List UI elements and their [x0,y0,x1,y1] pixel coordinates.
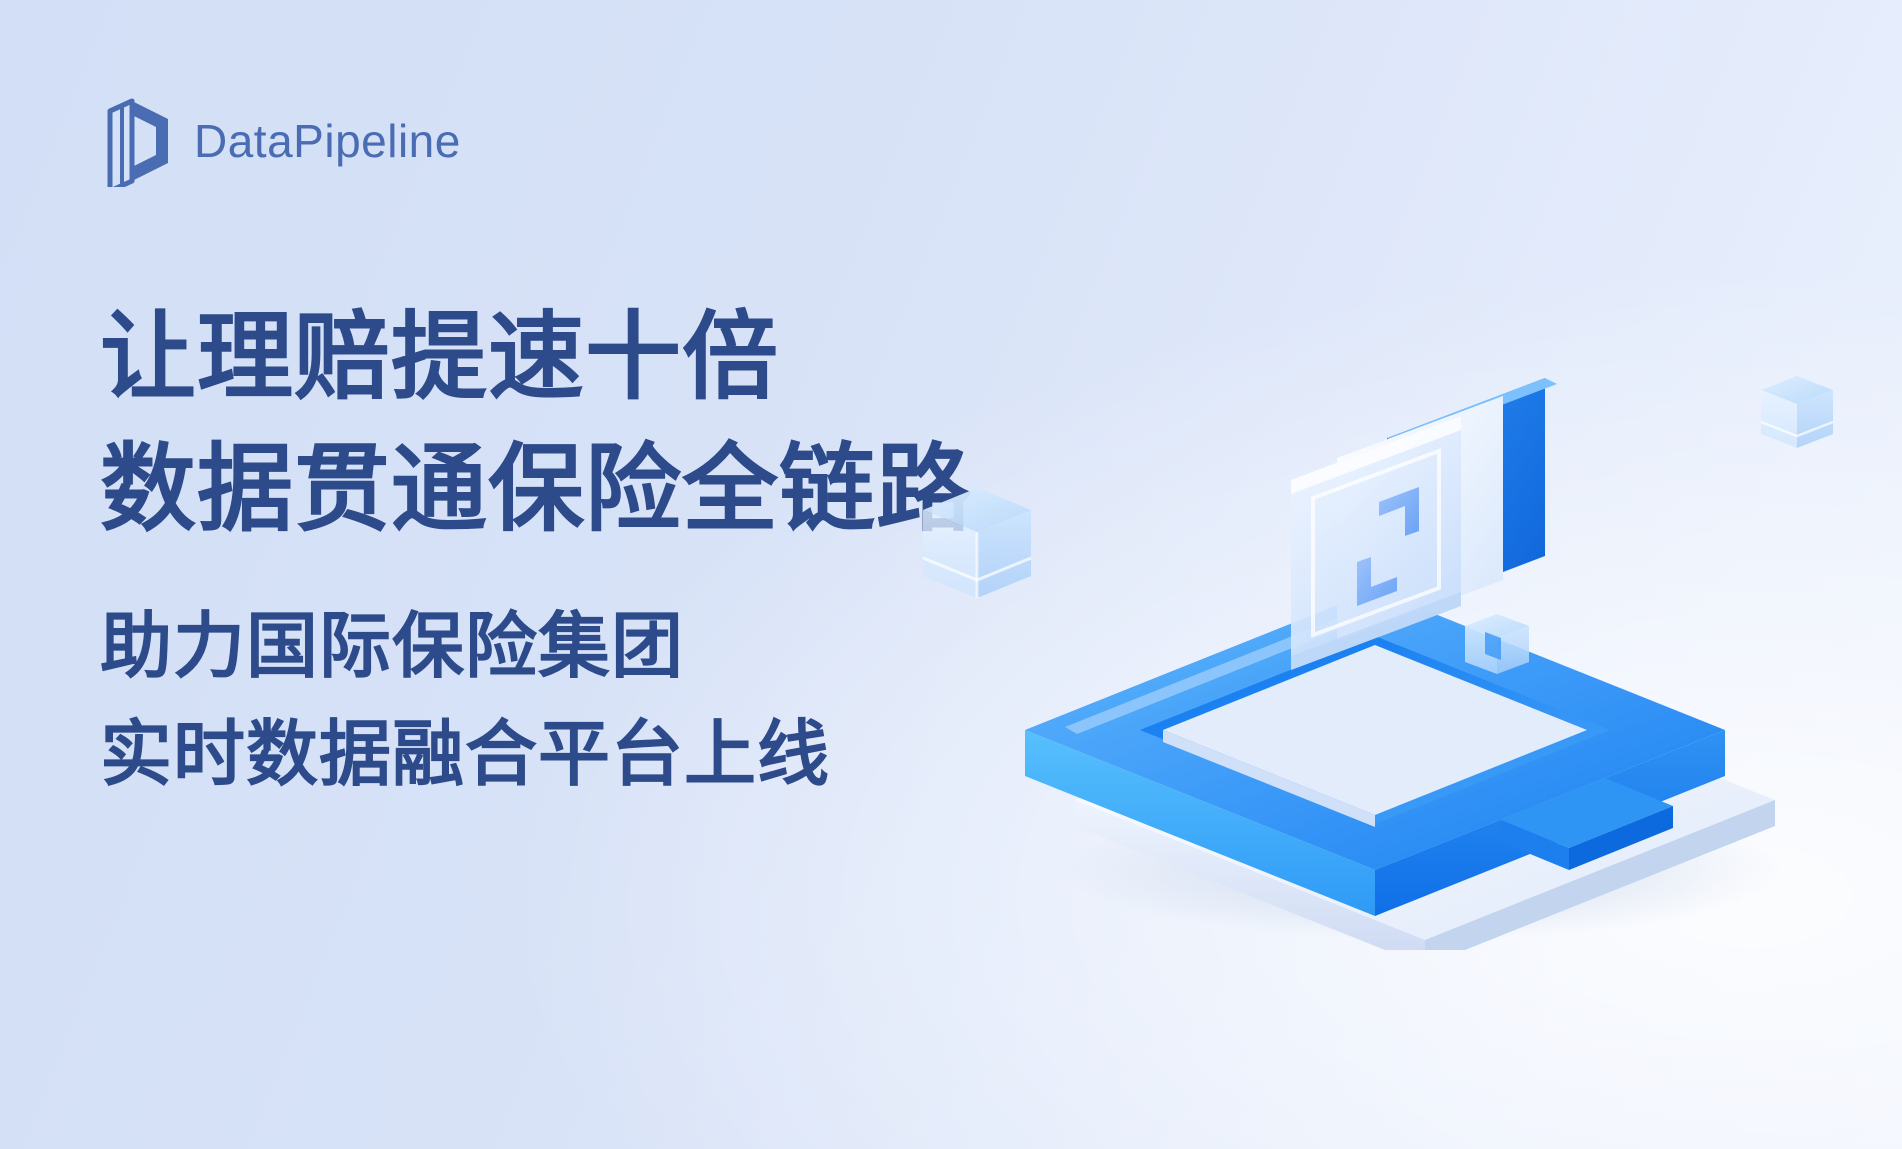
subheadline-line-2: 实时数据融合平台上线 [100,701,1000,809]
brand-wordmark: DataPipeline [194,118,461,164]
hero-copy: 让理赔提速十倍 数据贯通保险全链路 助力国际保险集团 实时数据融合平台上线 [100,292,1000,809]
brand-logo[interactable]: DataPipeline [100,95,461,187]
headline-line-2: 数据贯通保险全链路 [100,424,1000,556]
isometric-data-platform-illustration [905,330,1902,950]
floating-glass-cube-right [1761,376,1833,448]
hero-banner: DataPipeline 让理赔提速十倍 数据贯通保险全链路 助力国际保险集团 … [0,0,1902,1149]
datapipeline-isometric-d-logo-icon [100,95,172,187]
small-glass-cube-on-base [1465,614,1529,674]
floating-glass-cube-left [923,488,1031,598]
headline-line-1: 让理赔提速十倍 [100,292,1000,424]
subheadline-line-1: 助力国际保险集团 [100,593,1000,701]
